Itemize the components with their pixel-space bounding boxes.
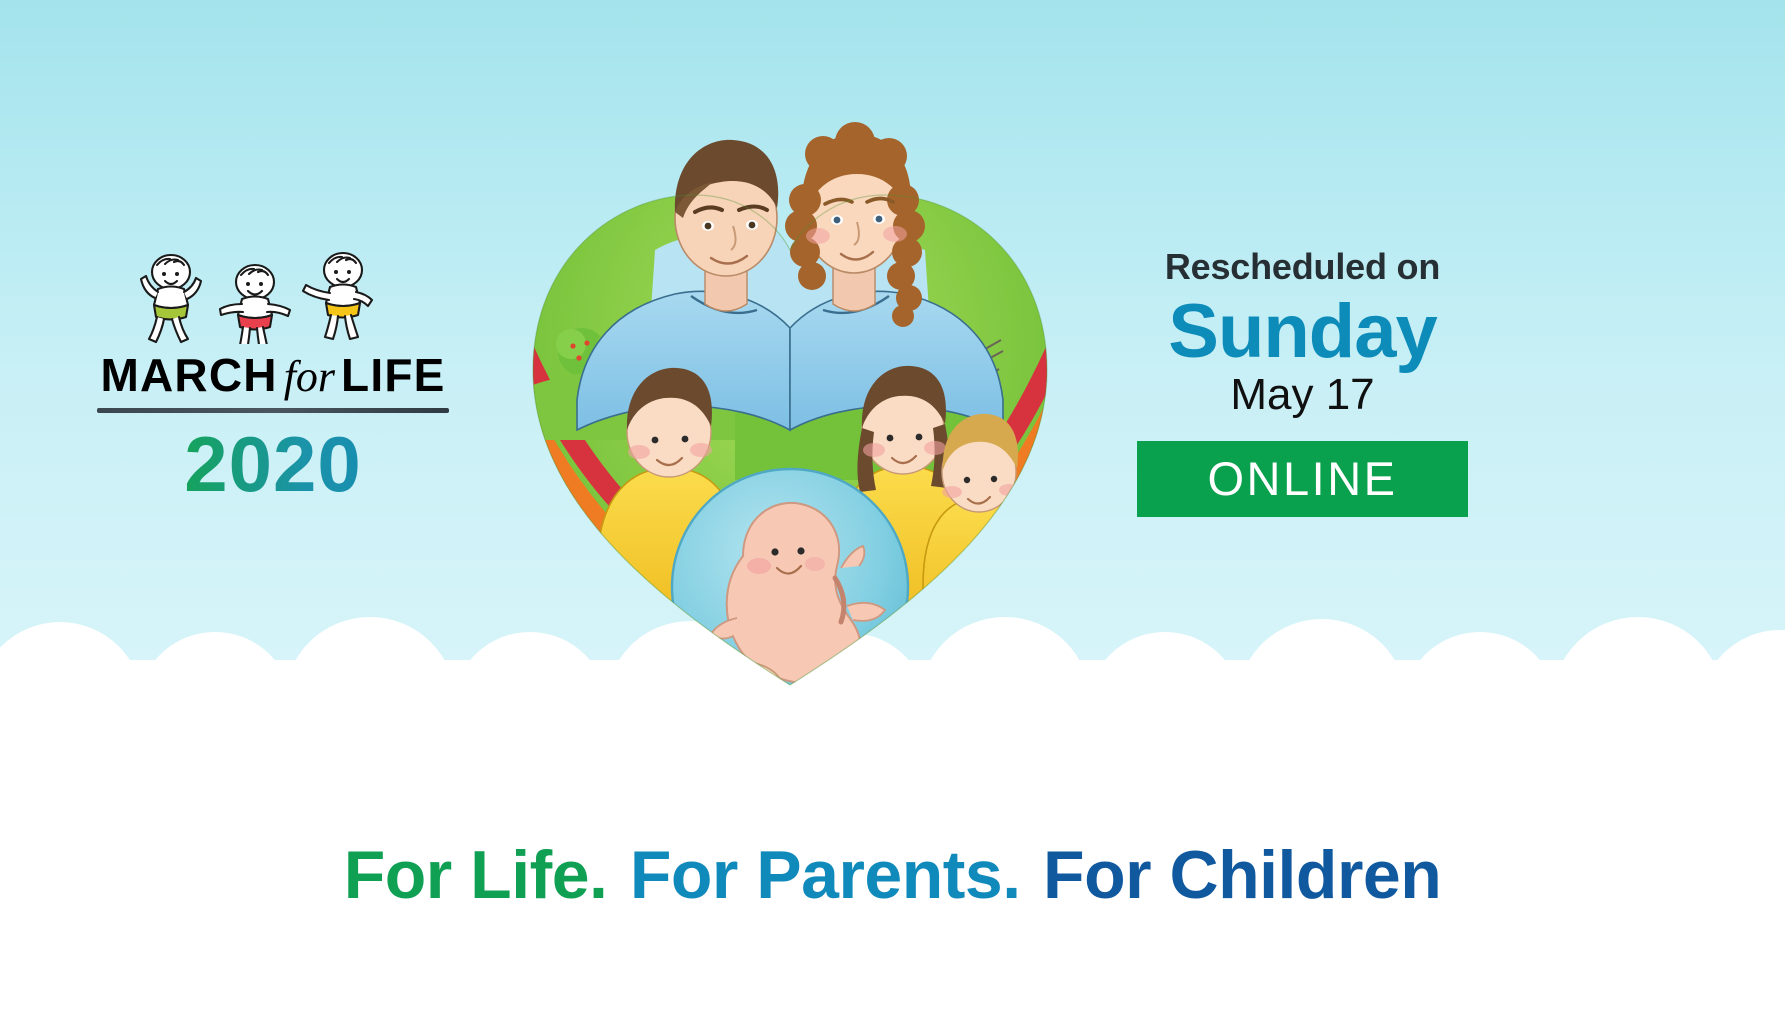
march-for-life-logo: MARCHforLIFE 2020 [88,248,458,503]
wordmark-life: LIFE [341,349,445,401]
tagline-part-life: For Life. [342,837,610,913]
tagline: For Life. For Parents. For Children [0,838,1785,913]
family-heart-illustration [505,100,1075,700]
event-date: May 17 [1135,372,1470,418]
tagline-part-children: For Children [1041,837,1443,913]
logo-year: 2020 [88,425,458,503]
wordmark-for: for [278,352,341,401]
march-for-life-wordmark: MARCHforLIFE [88,352,458,399]
tagline-part-parents: For Parents. [628,837,1023,913]
rescheduled-label: Rescheduled on [1135,248,1470,287]
online-badge[interactable]: ONLINE [1137,441,1468,517]
march-for-life-banner: MARCHforLIFE 2020 [0,0,1785,1019]
event-info-block: Rescheduled on Sunday May 17 ONLINE [1135,248,1470,517]
wordmark-march: MARCH [100,349,277,401]
event-day: Sunday [1135,293,1470,371]
wordmark-divider-rule [97,408,449,413]
online-badge-label: ONLINE [1208,455,1398,502]
three-babies-icon [88,248,458,344]
